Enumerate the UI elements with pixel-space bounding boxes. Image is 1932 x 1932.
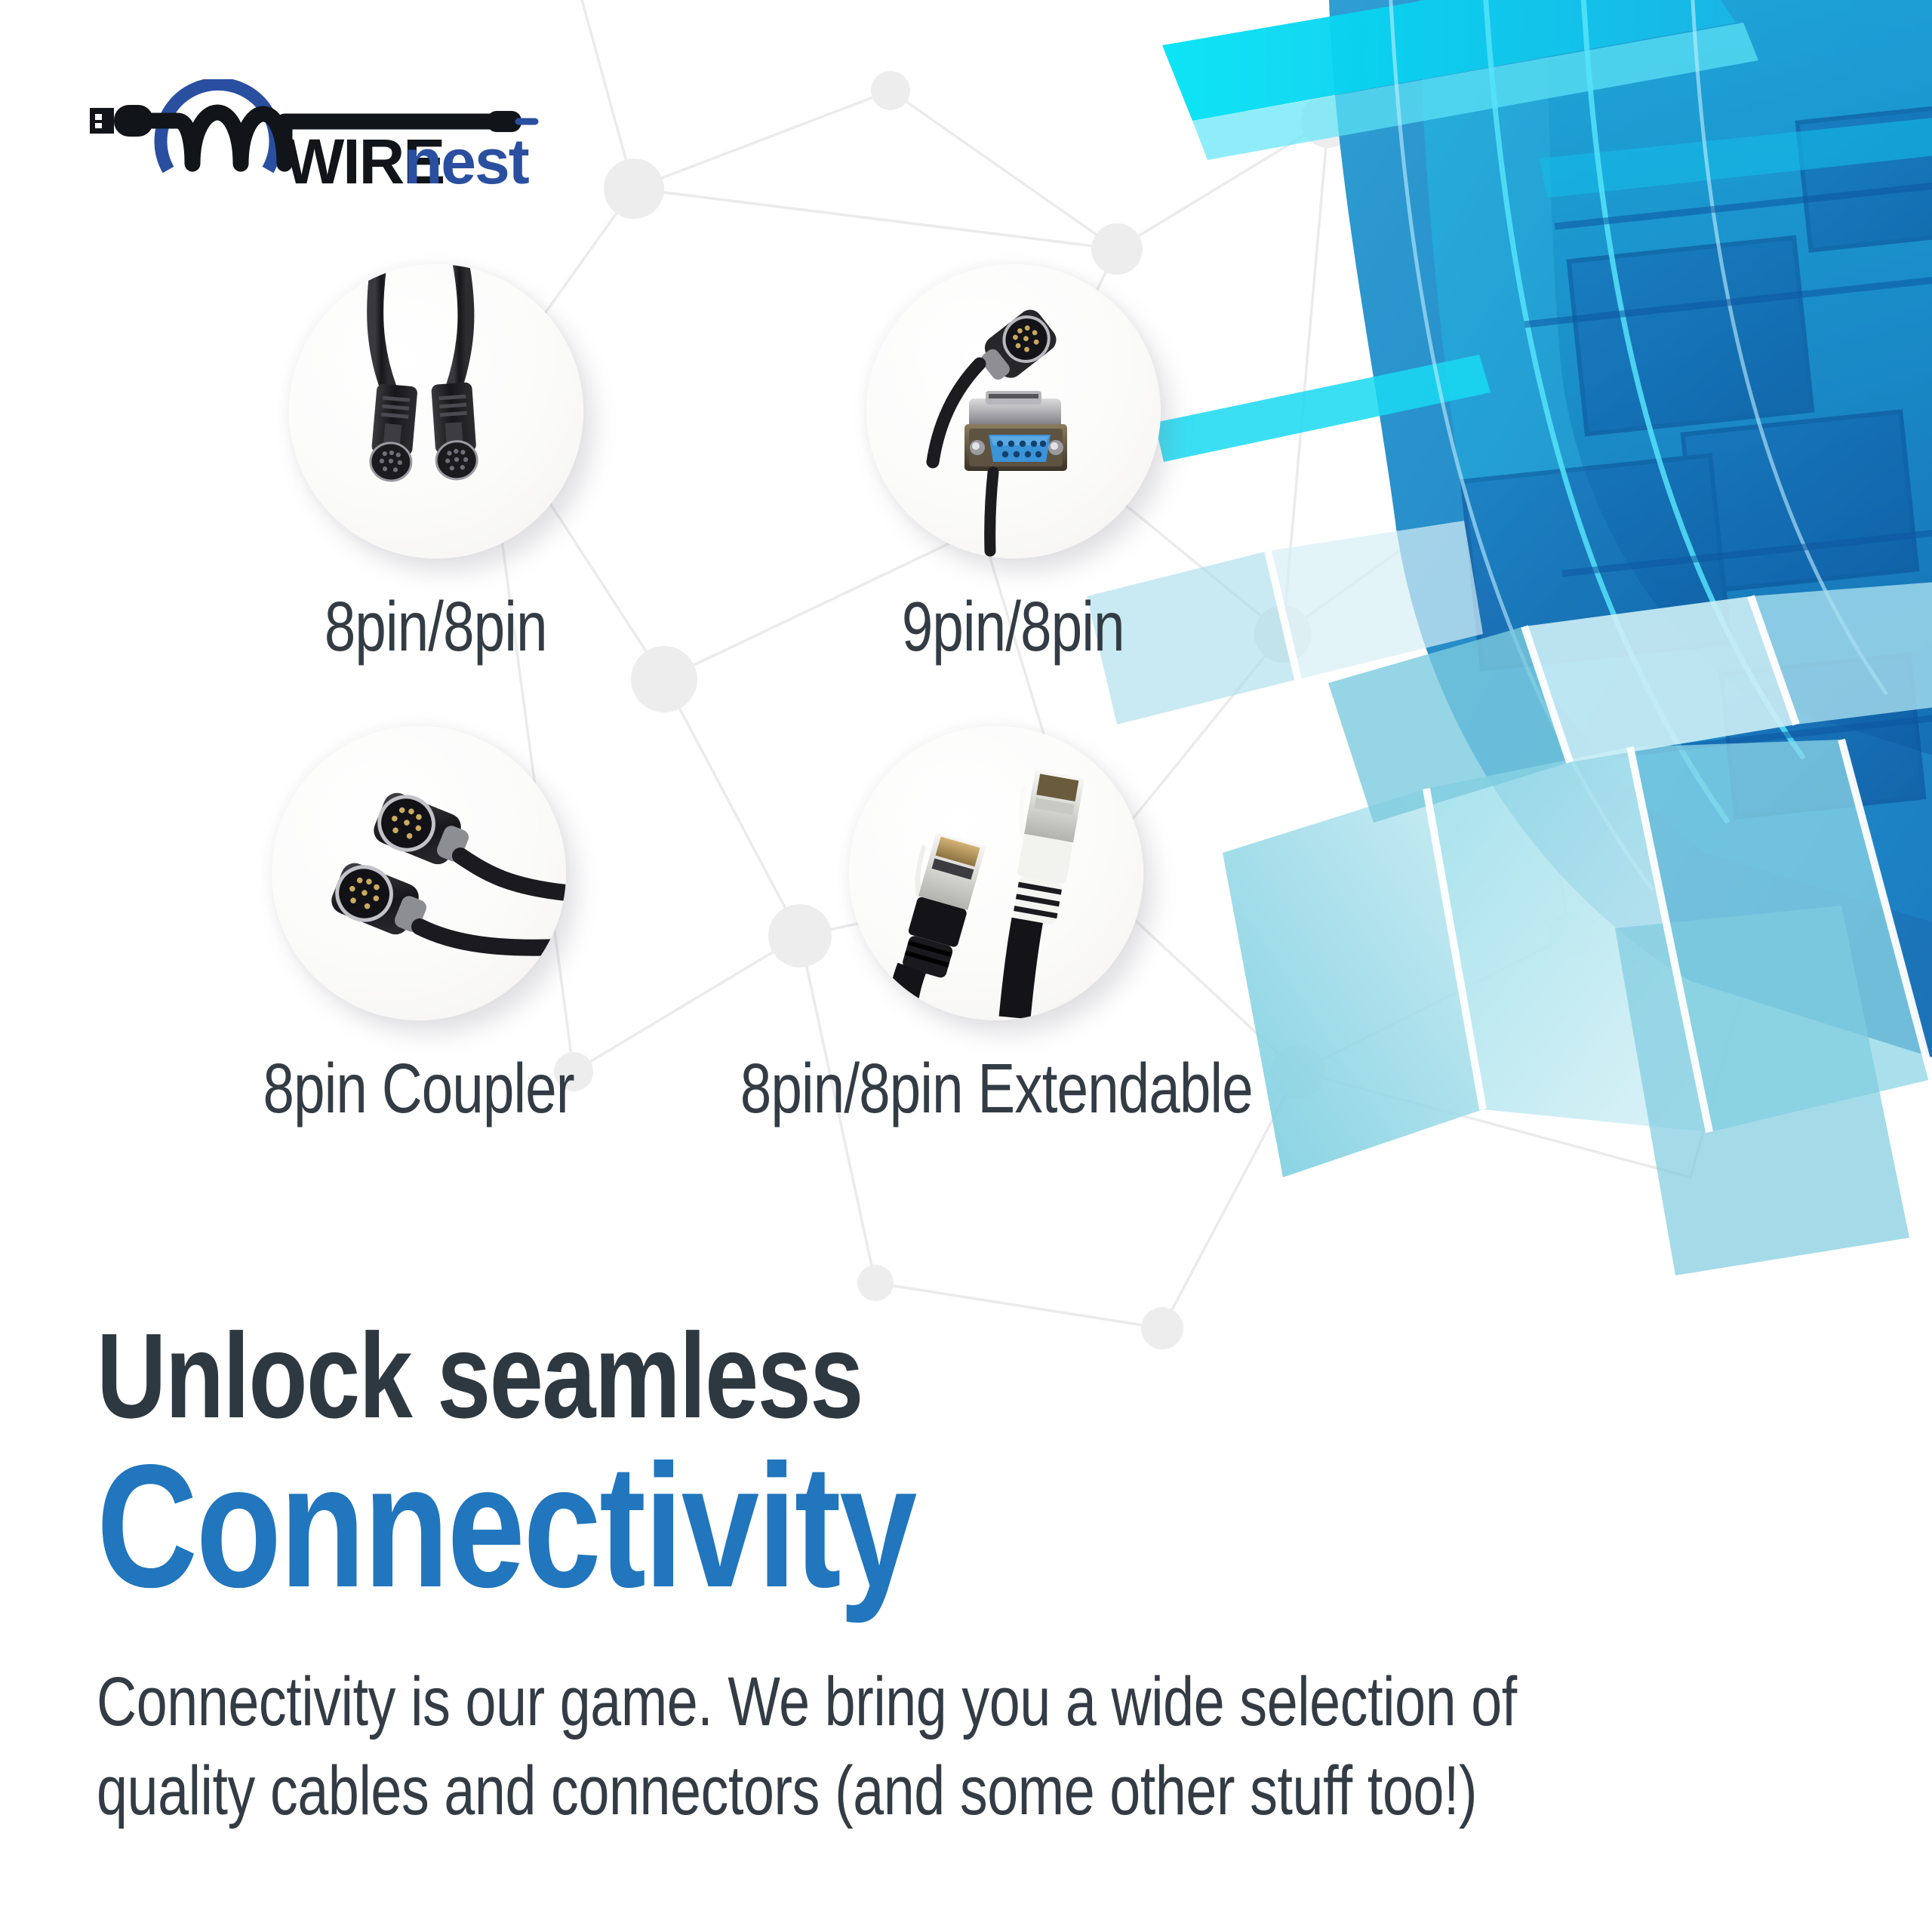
headline-line-1: Unlock seamless bbox=[97, 1317, 1497, 1435]
brand-logo[interactable]: WIRE nest bbox=[79, 79, 547, 200]
product-card-8pin-8pin[interactable]: 8pin/8pin bbox=[113, 264, 713, 662]
product-grid: 8pin/8pin bbox=[113, 264, 1291, 1124]
poster-canvas: WIRE nest bbox=[0, 0, 1932, 1932]
usb-plug-icon bbox=[90, 105, 153, 137]
marketing-copy-block: Unlock seamless Connectivity Connectivit… bbox=[97, 1317, 1847, 1835]
headline-line-2: Connectivity bbox=[97, 1441, 1497, 1611]
rj45-extendable-cable-icon bbox=[849, 726, 1143, 1020]
mini-din-8pin-cable-icon bbox=[289, 264, 583, 558]
product-card-8pin-coupler[interactable]: 8pin Coupler bbox=[113, 726, 694, 1124]
product-label-8pin-8pin-extendable: 8pin/8pin Extendable bbox=[740, 1054, 1253, 1124]
product-row-2: 8pin Coupler bbox=[113, 726, 1291, 1124]
product-row-1: 8pin/8pin bbox=[113, 264, 1291, 662]
mini-din-8pin-coupler-icon bbox=[272, 726, 566, 1020]
product-card-8pin-8pin-extendable[interactable]: 8pin/8pin Extendable bbox=[694, 726, 1291, 1124]
product-label-9pin-8pin: 9pin/8pin bbox=[902, 592, 1124, 662]
body-line-1: Connectivity is our game. We bring you a… bbox=[97, 1658, 1823, 1747]
product-thumb-8pin-coupler bbox=[272, 726, 566, 1020]
product-thumb-9pin-8pin bbox=[866, 264, 1161, 558]
logo-word-blue: nest bbox=[404, 126, 529, 197]
body-paragraph: Connectivity is our game. We bring you a… bbox=[97, 1658, 1823, 1836]
product-thumb-8pin-8pin bbox=[289, 264, 583, 558]
product-label-8pin-8pin: 8pin/8pin bbox=[325, 592, 547, 662]
product-card-9pin-8pin[interactable]: 9pin/8pin bbox=[713, 264, 1291, 662]
product-label-8pin-coupler: 8pin Coupler bbox=[263, 1054, 574, 1124]
db9-to-mini-din-8pin-cable-icon bbox=[866, 264, 1161, 558]
body-line-2: quality cables and connectors (and some … bbox=[97, 1747, 1823, 1836]
product-thumb-8pin-8pin-extendable bbox=[849, 726, 1143, 1020]
